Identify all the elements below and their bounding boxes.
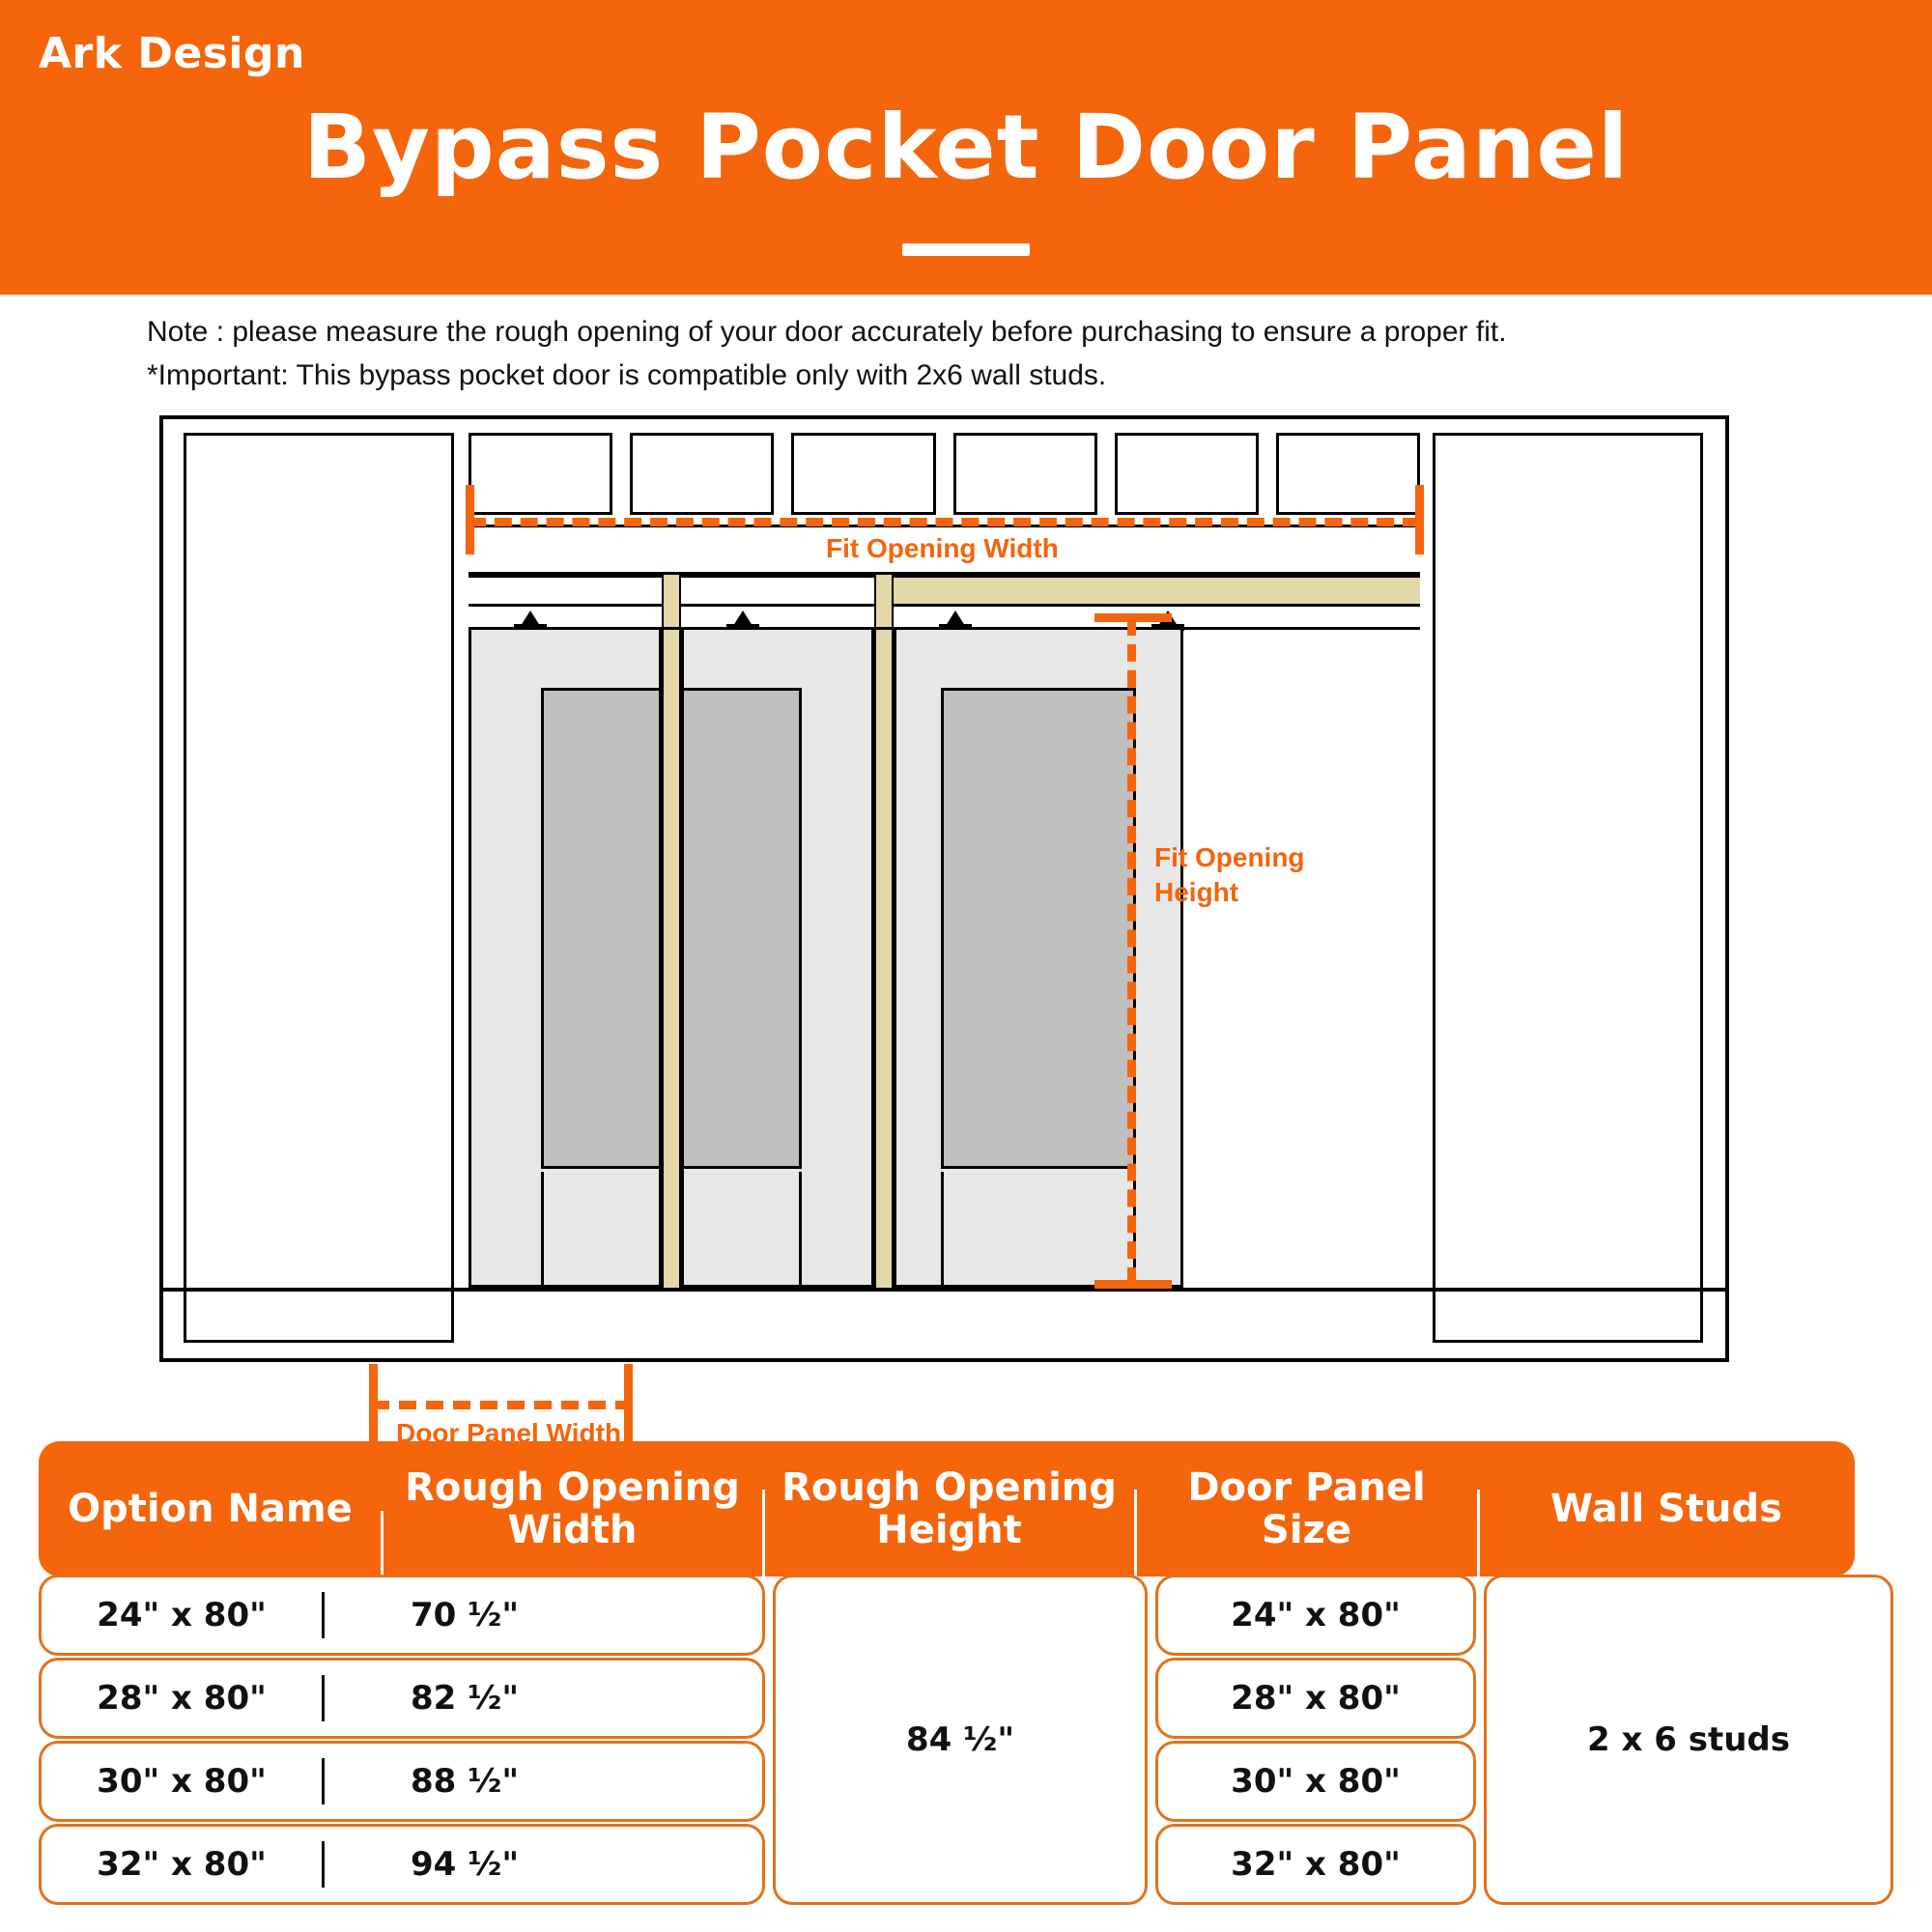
note-line-important: *Important: This bypass pocket door is c… bbox=[147, 359, 1106, 392]
wall-stud-box bbox=[469, 433, 612, 515]
wall-stud-boxes bbox=[469, 433, 1420, 515]
table-row: 32" x 80" 94 ½" bbox=[39, 1824, 765, 1905]
cell-rough-opening-width: 88 ½" bbox=[325, 1762, 605, 1801]
wall-panel-left bbox=[184, 433, 454, 1343]
table-header-wall-studs: Wall Studs bbox=[1478, 1488, 1855, 1530]
door-panel-rear-left bbox=[469, 630, 662, 1288]
door-panel-width-dashed-line bbox=[372, 1401, 633, 1409]
table-row: 24" x 80" 70 ½" bbox=[39, 1575, 765, 1656]
track-segment bbox=[469, 575, 662, 607]
fit-opening-height-dashed-line bbox=[1127, 618, 1136, 1285]
door-panel-width-tick-left bbox=[369, 1364, 378, 1443]
cell-rough-opening-width: 82 ½" bbox=[325, 1679, 605, 1718]
title-underline-decoration bbox=[902, 243, 1030, 256]
fit-opening-height-label: Fit Opening Height bbox=[1154, 840, 1305, 911]
table-row: 30" x 80" 88 ½" bbox=[39, 1741, 765, 1822]
fit-opening-height-label-line2: Height bbox=[1154, 875, 1305, 910]
door-panel-glass bbox=[681, 688, 802, 1169]
floor-line bbox=[159, 1288, 1729, 1292]
cell-option-name: 28" x 80" bbox=[42, 1679, 322, 1718]
wall-stud-box bbox=[1115, 433, 1259, 515]
wall-stud-box bbox=[953, 433, 1097, 515]
door-track-strip bbox=[469, 575, 1420, 607]
roller-segment bbox=[681, 607, 874, 630]
track-segment bbox=[681, 575, 874, 607]
table-row: 28" x 80" 82 ½" bbox=[39, 1658, 765, 1739]
table-header-rough-opening-height: Rough Opening Height bbox=[763, 1466, 1135, 1551]
fit-opening-width-label: Fit Opening Width bbox=[826, 533, 1059, 564]
door-panel-bottom-rail bbox=[681, 1172, 802, 1288]
fit-opening-width-tick-right bbox=[1415, 485, 1424, 554]
door-jamb-stud bbox=[874, 607, 894, 630]
cell-rough-opening-width: 94 ½" bbox=[325, 1845, 605, 1884]
door-panel-rear-right bbox=[681, 630, 874, 1288]
pocket-stud-divider bbox=[874, 630, 894, 1288]
fit-opening-height-label-line1: Fit Opening bbox=[1154, 840, 1305, 875]
cell-door-panel-size: 30" x 80" bbox=[1155, 1741, 1476, 1822]
wall-stud-box bbox=[791, 433, 935, 515]
door-jamb-stud bbox=[874, 575, 894, 607]
wall-stud-box bbox=[630, 433, 774, 515]
fit-opening-width-dashed-line bbox=[469, 518, 1420, 526]
pocket-stud-divider bbox=[662, 630, 681, 1288]
cell-rough-opening-width: 70 ½" bbox=[325, 1596, 605, 1634]
door-assembly-diagram: Fit Opening Width bbox=[159, 415, 1729, 1362]
track-segment-wood bbox=[894, 575, 1420, 607]
roller-segment bbox=[469, 607, 662, 630]
fit-opening-height-tick-top bbox=[1094, 613, 1172, 622]
note-line-measure: Note : please measure the rough opening … bbox=[147, 316, 1507, 349]
wall-panel-right bbox=[1433, 433, 1703, 1343]
table-header-row: Option Name Rough Opening Width Rough Op… bbox=[39, 1441, 1855, 1577]
cell-option-name: 24" x 80" bbox=[42, 1596, 322, 1634]
door-panel-width-tick-right bbox=[624, 1364, 633, 1443]
table-header-option-name: Option Name bbox=[39, 1488, 382, 1530]
door-jamb-stud bbox=[662, 575, 681, 607]
door-panel-bottom-rail bbox=[541, 1172, 662, 1288]
door-panel-bottom-rail bbox=[941, 1172, 1136, 1288]
door-jamb-stud bbox=[662, 607, 681, 630]
cell-rough-opening-height: 84 ½" bbox=[773, 1575, 1148, 1905]
specification-table: Option Name Rough Opening Width Rough Op… bbox=[39, 1441, 1893, 1922]
cell-door-panel-size: 32" x 80" bbox=[1155, 1824, 1476, 1905]
cell-door-panel-size: 24" x 80" bbox=[1155, 1575, 1476, 1656]
table-header-door-panel-size: Door Panel Size bbox=[1135, 1466, 1478, 1551]
table-body: 24" x 80" 70 ½" 28" x 80" 82 ½" 30" x 80… bbox=[39, 1575, 1893, 1922]
door-roller-strip bbox=[469, 607, 1420, 630]
cell-option-name: 32" x 80" bbox=[42, 1845, 322, 1884]
door-panel-glass bbox=[541, 688, 662, 1169]
table-header-rough-opening-width: Rough Opening Width bbox=[382, 1466, 763, 1551]
fit-opening-width-tick-left bbox=[466, 485, 474, 554]
fit-opening-height-tick-bottom bbox=[1094, 1280, 1172, 1289]
brand-logo: Ark Design bbox=[39, 29, 305, 78]
cell-option-name: 30" x 80" bbox=[42, 1762, 322, 1801]
cell-wall-studs: 2 x 6 studs bbox=[1484, 1575, 1893, 1905]
page-title: Bypass Pocket Door Panel bbox=[0, 101, 1932, 195]
door-panel-glass bbox=[941, 688, 1136, 1169]
wall-stud-box bbox=[1276, 433, 1420, 515]
header-banner: Ark Design Bypass Pocket Door Panel bbox=[0, 0, 1932, 295]
cell-door-panel-size: 28" x 80" bbox=[1155, 1658, 1476, 1739]
door-panel-front bbox=[894, 630, 1183, 1288]
